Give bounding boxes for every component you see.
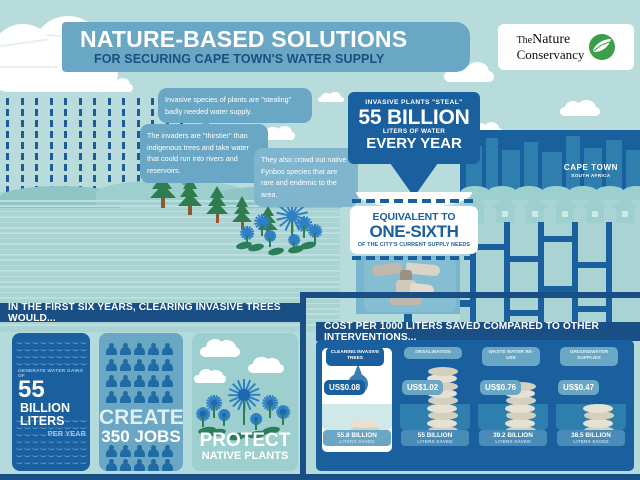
wave <box>72 353 79 358</box>
rain-drop <box>79 142 82 149</box>
wave <box>24 438 31 443</box>
bubble-thirstier-invaders: The invaders are "thirstier" than indige… <box>140 124 268 183</box>
person-icon <box>120 459 131 471</box>
wave <box>48 353 55 358</box>
cost-column-header: DESALINATION <box>404 347 462 359</box>
rain-drop <box>6 120 9 127</box>
person-body <box>106 463 117 471</box>
person-icon <box>134 391 145 403</box>
equivalent-one-sixth-panel: EQUIVALENT TO ONE-SIXTH OF THE CITY'S CU… <box>350 206 478 254</box>
person-body <box>134 463 145 471</box>
wave <box>64 353 71 358</box>
person-body <box>162 363 173 371</box>
person-icon <box>106 445 117 457</box>
person-body <box>106 379 117 387</box>
person-icon <box>148 391 159 403</box>
rain-drop <box>35 98 38 105</box>
page-title: NATURE-BASED SOLUTIONS <box>80 26 407 53</box>
wave <box>72 339 79 344</box>
tree-tier <box>232 211 252 222</box>
rain-drop <box>79 131 82 138</box>
house-icon <box>492 196 518 222</box>
cloud-icon <box>200 339 240 357</box>
cape-town-country: SOUTH AFRICA <box>564 173 618 178</box>
ground-line <box>0 286 340 288</box>
rain-drop <box>21 98 24 105</box>
dash-segment <box>464 256 473 260</box>
rain-drop <box>93 98 96 105</box>
rain-drop <box>35 175 38 182</box>
person-icon <box>120 343 131 355</box>
dash-segment <box>380 199 389 203</box>
house-window <box>622 211 628 217</box>
person-icon <box>120 391 131 403</box>
rain-drop <box>6 175 9 182</box>
rain-drop <box>6 109 9 116</box>
wave-row <box>16 445 86 450</box>
wave <box>40 353 47 358</box>
jobs-line-2: 350 JOBS <box>99 428 183 447</box>
building <box>486 138 498 192</box>
rain-drop <box>6 153 9 160</box>
cost-liters-value: 39.2 BILLION <box>479 432 547 439</box>
wave <box>40 452 47 457</box>
card-create-jobs: CREATE 350 JOBS <box>99 333 183 471</box>
logo-nature: Nature <box>532 32 570 47</box>
wave <box>80 459 87 464</box>
person-body <box>162 395 173 403</box>
person-icon <box>148 445 159 457</box>
rain-drop <box>50 120 53 127</box>
wave <box>72 459 79 464</box>
cost-liters-value: 55 BILLION <box>401 432 469 439</box>
cost-price-badge: US$0.47 <box>558 380 599 395</box>
person-icon <box>148 459 159 471</box>
rain-drop <box>35 164 38 171</box>
bubble-tail <box>200 120 212 128</box>
logo-line-2: Conservancy <box>517 48 585 61</box>
rain-drop <box>64 98 67 105</box>
rain-drop <box>64 131 67 138</box>
rain-drop <box>50 142 53 149</box>
page-subtitle: FOR SECURING CAPE TOWN'S WATER SUPPLY <box>94 52 385 66</box>
rain-drop <box>79 98 82 105</box>
rain-drop <box>93 142 96 149</box>
rain-drop <box>64 120 67 127</box>
jobs-text: CREATE 350 JOBS <box>99 407 183 447</box>
wave <box>24 452 31 457</box>
rain-drop <box>35 131 38 138</box>
ground-line <box>0 292 340 294</box>
rain-drop <box>21 142 24 149</box>
fynbos-flower-icon <box>250 413 262 425</box>
wave <box>56 438 63 443</box>
invasive-plants-steal-panel: INVASIVE PLANTS "STEAL" 55 BILLION LITER… <box>348 92 480 164</box>
wave <box>24 459 31 464</box>
steal-units-label: LITERS OF WATER <box>348 128 480 135</box>
rain-drop <box>21 131 24 138</box>
steal-amount: 55 BILLION <box>348 107 480 129</box>
wave-row <box>16 459 86 464</box>
rain-drop <box>108 109 111 116</box>
rain-drop <box>108 175 111 182</box>
rain-drop <box>122 120 125 127</box>
wave <box>32 438 39 443</box>
card-protect-plants: PROTECT NATIVE PLANTS <box>192 333 298 471</box>
wave <box>16 438 23 443</box>
person-icon <box>148 359 159 371</box>
rain-drop <box>35 142 38 149</box>
plants-text: PROTECT NATIVE PLANTS <box>192 431 298 463</box>
person-body <box>134 449 145 457</box>
jobs-line-1: CREATE <box>99 407 183 428</box>
wave <box>24 445 31 450</box>
coin <box>349 419 379 428</box>
dash-segment <box>352 256 361 260</box>
cloud-icon <box>560 100 600 116</box>
ground-line <box>0 281 340 283</box>
rain-drop <box>122 153 125 160</box>
person-body <box>106 363 117 371</box>
water-gains-unit-2: LITERS <box>20 414 64 428</box>
cost-column-header: GROUNDWATER SUPPLIES <box>560 347 618 366</box>
person-body <box>106 347 117 355</box>
pine-tree-icon <box>206 186 229 223</box>
cost-column: DESALINATIONUS$1.0255 BILLIONLITERS SAVE… <box>400 348 470 452</box>
ground-line <box>0 259 340 261</box>
plants-line-1: PROTECT <box>192 431 298 450</box>
person-icon <box>162 359 173 371</box>
rain-drop <box>6 131 9 138</box>
wave <box>80 339 87 344</box>
rain-drop <box>93 109 96 116</box>
rain-drop <box>79 164 82 171</box>
person-icon <box>162 445 173 457</box>
rain-drop <box>64 153 67 160</box>
dash-segment <box>464 199 473 203</box>
dash-segment <box>408 256 417 260</box>
rain-drop <box>50 175 53 182</box>
person-body <box>148 347 159 355</box>
stem <box>223 417 225 427</box>
wave <box>32 452 39 457</box>
wave <box>32 459 39 464</box>
cost-liters-label: LITERS SAVED <box>557 439 625 444</box>
tree-tier <box>206 202 228 214</box>
wave <box>24 360 31 365</box>
person-body <box>134 347 145 355</box>
person-body <box>134 379 145 387</box>
cape-town-name: CAPE TOWN <box>564 163 618 172</box>
house-icon <box>552 196 578 222</box>
cost-liters-label: LITERS SAVED <box>479 439 547 444</box>
bubble-crowd-out-fynbos: They also crowd out native Fynbos specie… <box>254 148 358 207</box>
wave <box>64 445 71 450</box>
pipe-horizontal <box>504 310 544 316</box>
person-body <box>120 449 131 457</box>
house-window <box>502 211 508 217</box>
cost-column: GROUNDWATER SUPPLIESUS$0.4738.5 BILLIONL… <box>556 348 626 452</box>
wave <box>48 459 55 464</box>
dash-segment <box>380 256 389 260</box>
coin <box>427 404 457 413</box>
person-icon <box>106 375 117 387</box>
person-icon <box>134 459 145 471</box>
frame-bottom <box>0 474 640 480</box>
wave <box>72 360 79 365</box>
water-gains-per-year: PER YEAR <box>18 429 86 438</box>
bubble-2-text: The invaders are "thirstier" than indige… <box>147 131 249 175</box>
rain-drop <box>108 142 111 149</box>
person-icon <box>162 391 173 403</box>
person-body <box>134 363 145 371</box>
wave <box>40 459 47 464</box>
cost-price-badge: US$0.08 <box>324 380 365 395</box>
cost-price-badge: US$0.76 <box>480 380 521 395</box>
rain-drop <box>108 120 111 127</box>
cape-town-label: CAPE TOWN SOUTH AFRICA <box>564 163 618 178</box>
wave <box>24 353 31 358</box>
house-window <box>562 211 568 217</box>
dash-segment <box>422 199 431 203</box>
person-body <box>162 347 173 355</box>
wave <box>72 346 79 351</box>
cost-liters-label: LITERS SAVED <box>323 439 391 444</box>
bubble-tail <box>278 200 290 208</box>
cost-liters-value: 55.8 BILLION <box>323 432 391 439</box>
rain-drop <box>122 175 125 182</box>
steal-kicker-label: INVASIVE PLANTS "STEAL" <box>348 99 480 106</box>
house-icon <box>612 196 638 222</box>
rain-drop <box>6 98 9 105</box>
fynbos-flower-icon <box>196 407 210 421</box>
person-icon <box>120 375 131 387</box>
wave <box>48 452 55 457</box>
ground-line <box>0 265 340 267</box>
rain-drop <box>21 120 24 127</box>
wave <box>56 353 63 358</box>
ground-line <box>0 297 340 299</box>
rain-drop <box>64 109 67 116</box>
rain-drop <box>79 175 82 182</box>
house-roof <box>612 196 638 207</box>
ground-line <box>0 254 340 256</box>
fynbos-flower-icon <box>288 234 300 246</box>
stem <box>202 416 204 427</box>
person-icon <box>148 375 159 387</box>
person-icon <box>120 359 131 371</box>
house-icon <box>522 196 548 222</box>
cloud-puff <box>115 78 131 92</box>
person-icon <box>120 445 131 457</box>
wave <box>56 346 63 351</box>
cloud-puff <box>277 126 293 140</box>
logo-the: The <box>517 35 533 46</box>
infographic-canvas: CAPE TOWN SOUTH AFRICA NATURE-BASED SOLU… <box>0 0 640 480</box>
person-icon <box>106 391 117 403</box>
wave <box>64 339 71 344</box>
cost-footer: 38.5 BILLIONLITERS SAVED <box>557 430 625 446</box>
cost-footer: 55.8 BILLIONLITERS SAVED <box>323 430 391 446</box>
wave <box>72 438 79 443</box>
person-icon <box>134 359 145 371</box>
wave <box>48 360 55 365</box>
stem <box>282 414 284 425</box>
person-icon <box>106 359 117 371</box>
wave <box>16 459 23 464</box>
cloud-puff <box>208 370 222 382</box>
rain-drop <box>50 98 53 105</box>
equivalent-line-2: ONE-SIXTH <box>350 223 478 241</box>
rain-drop <box>21 175 24 182</box>
dash-segment <box>366 199 375 203</box>
dash-segment <box>422 256 431 260</box>
cost-column-header: CLEARING INVASIVE TREES <box>326 347 384 366</box>
person-icon <box>106 343 117 355</box>
fynbos-flower-icon <box>228 379 260 411</box>
logo-wordmark: TheNature Conservancy <box>517 33 585 61</box>
cost-column-header: WASTE WATER RE-USE <box>482 347 540 366</box>
oak-leaf-circle-icon <box>589 34 615 60</box>
cloud-puff <box>218 340 236 355</box>
rain-drop <box>122 142 125 149</box>
rain-drop <box>137 109 140 116</box>
stem <box>269 238 271 247</box>
pipe-horizontal <box>538 236 578 242</box>
water-gains-text: GENERATE WATER GAINS OF 55BILLIONLITERS … <box>12 369 90 438</box>
pipe-horizontal <box>504 256 544 262</box>
plants-line-2: NATIVE PLANTS <box>192 450 298 463</box>
person-body <box>106 395 117 403</box>
house-roof <box>492 196 518 207</box>
rain-drop <box>50 131 53 138</box>
person-icon <box>106 459 117 471</box>
wave <box>40 339 47 344</box>
wave <box>80 445 87 450</box>
bubble-1-text: Invasive species of plants are "stealing… <box>165 95 291 116</box>
person-icon <box>162 459 173 471</box>
person-body <box>148 363 159 371</box>
person-body <box>162 463 173 471</box>
rain-drop <box>64 175 67 182</box>
house-roof <box>552 196 578 207</box>
wave <box>48 438 55 443</box>
wave <box>32 360 39 365</box>
rain-drop <box>6 142 9 149</box>
rain-drop <box>151 98 154 105</box>
cost-column: CLEARING INVASIVE TREESUS$0.0855.8 BILLI… <box>322 348 392 452</box>
stem <box>303 226 305 238</box>
wave <box>80 438 87 443</box>
rain-drop <box>93 164 96 171</box>
ground-line <box>0 270 340 272</box>
person-body <box>148 395 159 403</box>
wave <box>72 445 79 450</box>
ground-line <box>0 324 340 326</box>
cost-column: WASTE WATER RE-USEUS$0.7639.2 BILLIONLIT… <box>478 348 548 452</box>
rain-drop <box>93 153 96 160</box>
wave <box>32 339 39 344</box>
wave <box>80 360 87 365</box>
fynbos-flower-icon <box>218 409 230 421</box>
wave <box>80 346 87 351</box>
rain-drop <box>6 164 9 171</box>
ground-line <box>0 276 340 278</box>
dash-segment <box>450 199 459 203</box>
person-icon <box>134 445 145 457</box>
bubble-invasive-species: Invasive species of plants are "stealing… <box>158 88 312 123</box>
person-body <box>120 379 131 387</box>
cloud-icon <box>194 369 226 383</box>
cost-liters-label: LITERS SAVED <box>401 439 469 444</box>
house-roof <box>582 196 608 207</box>
person-body <box>120 363 131 371</box>
wave <box>56 452 63 457</box>
rain-drop <box>122 98 125 105</box>
wave <box>64 459 71 464</box>
wave <box>48 445 55 450</box>
wave <box>16 360 23 365</box>
person-icon <box>134 375 145 387</box>
wave-row <box>16 452 86 457</box>
house-icon <box>582 196 608 222</box>
person-icon <box>148 343 159 355</box>
banner-cost-comparison: COST PER 1000 LITERS SAVED COMPARED TO O… <box>316 322 640 341</box>
dash-segment <box>366 256 375 260</box>
person-body <box>134 395 145 403</box>
house-window <box>592 211 598 217</box>
rain-drop <box>93 120 96 127</box>
card-water-gains: GENERATE WATER GAINS OF 55BILLIONLITERS … <box>12 333 90 471</box>
coin <box>583 404 613 413</box>
cost-liters-value: 38.5 BILLION <box>557 432 625 439</box>
rain-drop <box>35 153 38 160</box>
rain-drop <box>21 153 24 160</box>
water-gains-number: 55 <box>18 379 45 401</box>
person-body <box>148 463 159 471</box>
wave <box>40 360 47 365</box>
wave <box>16 346 23 351</box>
wave <box>16 339 23 344</box>
rain-drop <box>21 109 24 116</box>
dash-segment <box>436 256 445 260</box>
tree-tier <box>178 193 202 206</box>
wave <box>32 445 39 450</box>
wave <box>56 445 63 450</box>
rain-drop <box>79 120 82 127</box>
water-gains-value-row: 55BILLIONLITERS <box>18 379 90 427</box>
banner-left-text: IN THE FIRST SIX YEARS, CLEARING INVASIV… <box>8 302 302 324</box>
rain-drop <box>108 131 111 138</box>
logo-line-1: TheNature <box>517 33 585 47</box>
rain-drop <box>93 175 96 182</box>
wave <box>48 346 55 351</box>
building <box>524 142 538 192</box>
wave <box>48 339 55 344</box>
dash-segment <box>394 256 403 260</box>
wave <box>72 452 79 457</box>
wave <box>64 360 71 365</box>
nature-conservancy-logo: TheNature Conservancy <box>498 24 634 70</box>
coin <box>428 367 458 376</box>
rain-drop <box>64 164 67 171</box>
wave-row <box>16 346 86 351</box>
rain-drop <box>151 109 154 116</box>
person-body <box>120 463 131 471</box>
wave-row <box>16 353 86 358</box>
rain-drop <box>108 153 111 160</box>
cloud-puff <box>577 100 596 116</box>
